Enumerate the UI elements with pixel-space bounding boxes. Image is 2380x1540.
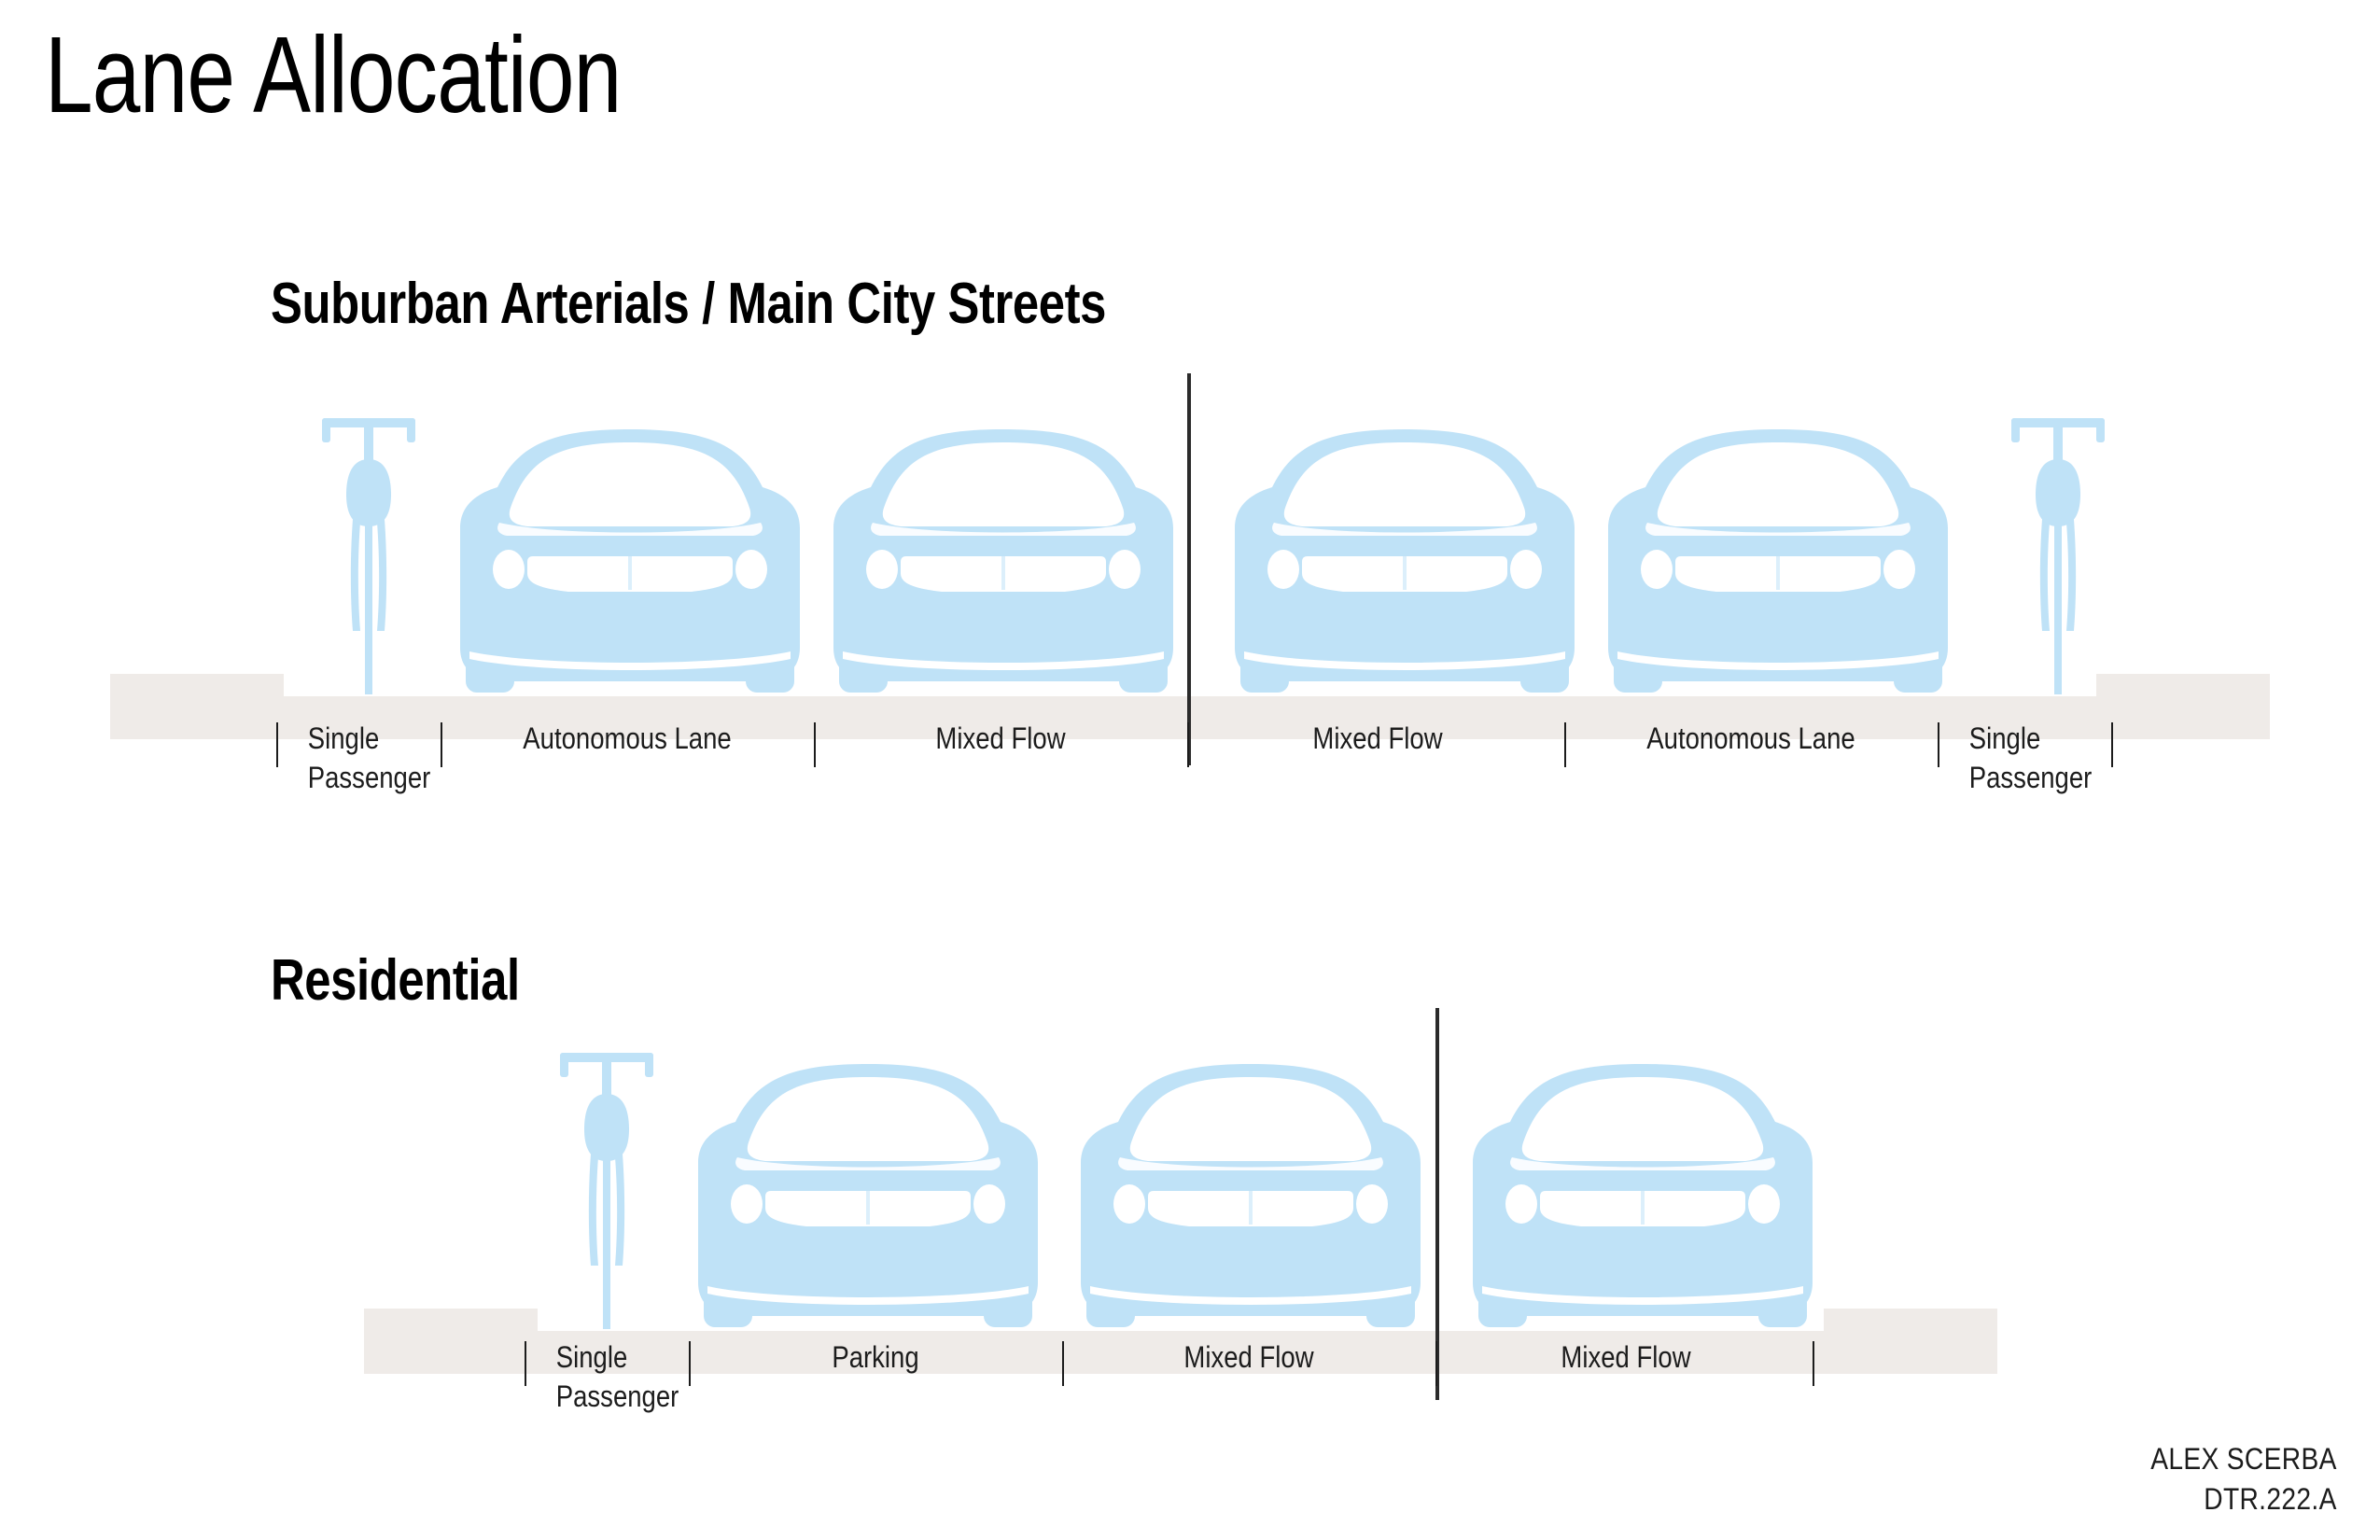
lane-labels-residential: Single Passenger Parking Mixed Flow Mixe… <box>0 1337 2380 1440</box>
center-median-suburban <box>1187 373 1191 765</box>
car-mixedflow-left-suburban <box>833 429 1173 693</box>
lane-tick <box>814 722 816 767</box>
bicycle-right-suburban <box>2011 418 2105 694</box>
lane-label-single-passenger-residential: Single Passenger <box>539 1337 708 1416</box>
lane-label-mixedflow-left: Mixed Flow <box>840 719 1161 758</box>
sidewalk-left-suburban <box>110 674 284 696</box>
sidewalk-right-residential <box>1824 1309 1997 1331</box>
lane-tick <box>1813 1341 1814 1386</box>
car-mixedflow-left-residential <box>1081 1064 1421 1327</box>
lane-tick-center <box>1187 722 1189 767</box>
car-autonomous-left-suburban <box>460 429 800 693</box>
lane-label-parking-residential: Parking <box>715 1337 1036 1377</box>
car-autonomous-right-suburban <box>1608 429 1948 693</box>
section-title-residential: Residential <box>271 947 520 1014</box>
page-title: Lane Allocation <box>45 13 621 137</box>
car-mixedflow-right-residential <box>1473 1064 1813 1327</box>
sidewalk-left-residential <box>364 1309 538 1331</box>
lane-label-mixedflow-right: Mixed Flow <box>1217 719 1538 758</box>
bicycle-residential <box>560 1053 653 1329</box>
car-mixedflow-right-suburban <box>1235 429 1575 693</box>
lane-tick <box>525 1341 526 1386</box>
lane-tick <box>1938 722 1939 767</box>
lane-tick <box>441 722 442 767</box>
lane-tick-center <box>1435 1341 1437 1386</box>
sidewalk-right-suburban <box>2096 674 2270 696</box>
lane-tick <box>276 722 278 767</box>
car-parking-residential <box>698 1064 1038 1327</box>
lane-label-single-passenger-right: Single Passenger <box>1952 719 2121 797</box>
lane-tick <box>2111 722 2113 767</box>
section-title-suburban: Suburban Arterials / Main City Streets <box>271 271 1106 337</box>
lane-tick <box>1564 722 1566 767</box>
lane-tick <box>689 1341 691 1386</box>
lane-label-autonomous-right: Autonomous Lane <box>1590 719 1911 758</box>
lane-label-mixedflow-right-residential: Mixed Flow <box>1465 1337 1786 1377</box>
credit-block: ALEX SCERBA DTR.222.A <box>2150 1439 2337 1519</box>
lane-label-autonomous-left: Autonomous Lane <box>467 719 788 758</box>
lane-tick <box>1062 1341 1064 1386</box>
lane-label-mixedflow-left-residential: Mixed Flow <box>1088 1337 1409 1377</box>
lane-labels-suburban: Single Passenger Autonomous Lane Mixed F… <box>0 719 2380 821</box>
lane-label-single-passenger-left: Single Passenger <box>290 719 460 797</box>
bicycle-left-suburban <box>322 418 415 694</box>
